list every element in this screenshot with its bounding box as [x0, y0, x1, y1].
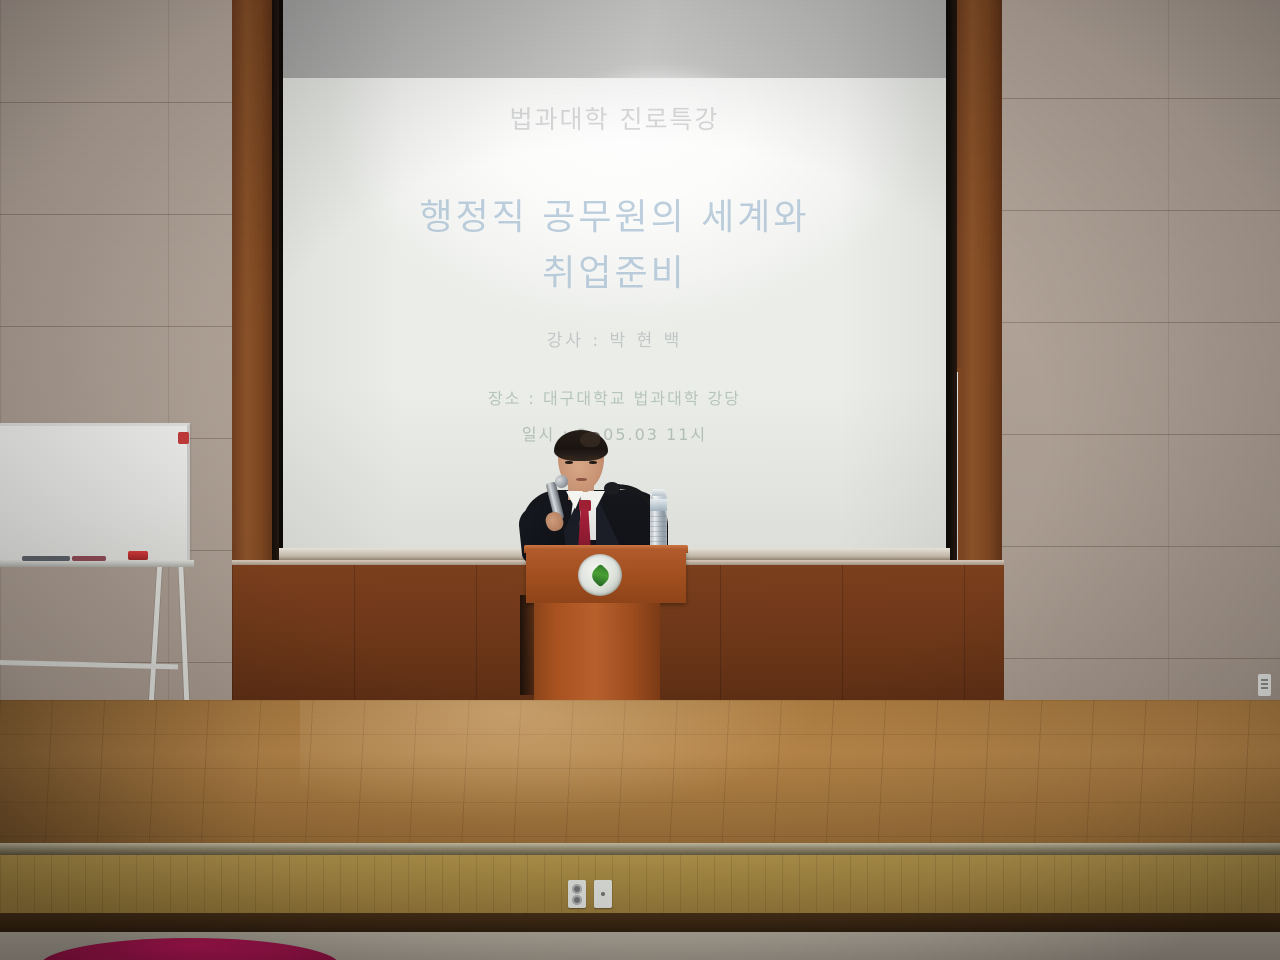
mobile-whiteboard: [0, 423, 190, 563]
eyebrow-right: [587, 456, 599, 459]
stage-single-outlet[interactable]: [594, 880, 612, 908]
water-bottle-cap: [652, 489, 665, 496]
whiteboard-marker-tray: [0, 560, 194, 567]
outlet-socket-center: [601, 892, 605, 896]
whiteboard-marker-a: [22, 556, 70, 561]
university-emblem: [578, 554, 622, 596]
screen-right-reveal: [950, 0, 957, 565]
whiteboard-eraser: [128, 551, 148, 560]
outlet-socket-upper: [572, 884, 582, 894]
right-wall-outlet[interactable]: [1258, 674, 1271, 696]
outlet-socket-lower: [572, 895, 582, 905]
eye-right: [589, 461, 597, 464]
floor-left-shadow: [0, 700, 260, 850]
gooseneck-microphone-head: [604, 482, 620, 495]
whiteboard-marker-b: [72, 556, 106, 561]
hair-part: [580, 432, 600, 447]
whiteboard-clip: [178, 432, 189, 444]
left-wall-tile-grid: [0, 0, 240, 702]
mouth: [576, 478, 587, 481]
water-bottle-label: [650, 499, 667, 511]
photo-scene: 법과대학 진로특강 행정직 공무원의 세계와 취업준비 강사 : 박 현 백 장…: [0, 0, 1280, 960]
eye-left: [565, 461, 573, 464]
stage-edge-strip: [0, 843, 1280, 855]
floor-light-reflection: [300, 700, 820, 820]
screen-left-reveal: [272, 0, 279, 565]
eyebrow-left: [563, 456, 575, 459]
stage-duplex-outlet[interactable]: [568, 880, 586, 908]
right-wall-tile-grid: [1000, 0, 1280, 702]
